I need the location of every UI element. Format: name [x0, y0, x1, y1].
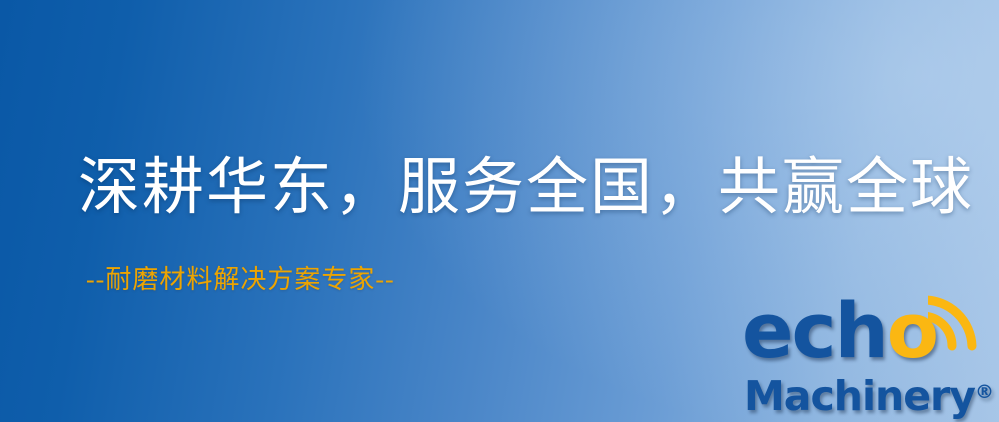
banner-content: 深耕华东，服务全国，共赢全球 --耐磨材料解决方案专家-- echo Machi… — [0, 0, 999, 422]
banner-headline: 深耕华东，服务全国，共赢全球 — [78, 152, 974, 224]
logo-wordmark-primary: ech — [742, 286, 887, 375]
banner-subtitle: --耐磨材料解决方案专家-- — [86, 264, 395, 296]
registered-trademark-icon: ® — [975, 381, 994, 403]
logo-wordmark: echo — [742, 294, 937, 368]
hero-banner: 深耕华东，服务全国，共赢全球 --耐磨材料解决方案专家-- echo Machi… — [0, 0, 999, 422]
logo-tagline: Machinery® — [744, 370, 994, 414]
signal-waves-icon — [928, 292, 994, 354]
logo-tagline-text: Machinery — [744, 372, 975, 420]
echo-machinery-logo[interactable]: echo Machinery® — [742, 294, 994, 418]
